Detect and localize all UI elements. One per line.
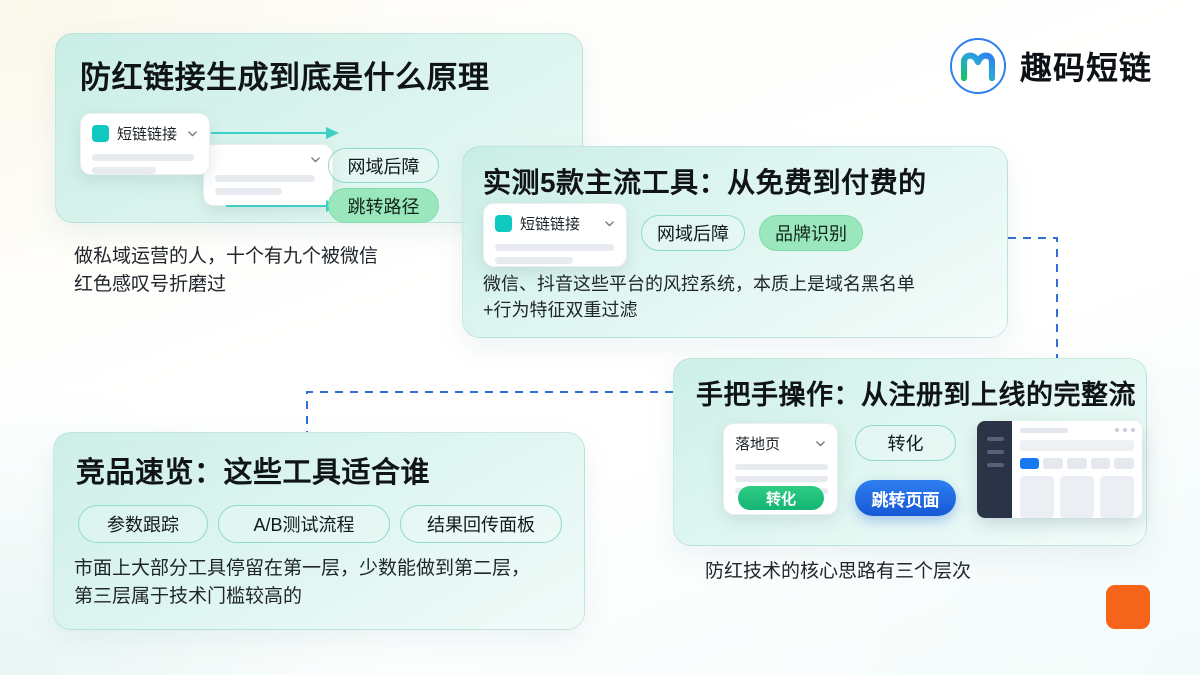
mock-searchbar (1020, 440, 1134, 451)
chevron-down-icon[interactable] (815, 438, 826, 449)
caption-principle: 做私域运营的人，十个有九个被微信 红色感叹号折磨过 (74, 243, 378, 298)
pill-label: 网域后障 (657, 220, 729, 246)
mock-sidebar-item (987, 437, 1004, 441)
pill-label: A/B测试流程 (253, 511, 354, 537)
mock-content (1012, 421, 1142, 518)
orange-accent-chip (1106, 585, 1150, 629)
placeholder-bar (92, 154, 194, 161)
mock-tab (1114, 458, 1134, 469)
slide-canvas: 防红链接生成到底是什么原理 短链链接 (0, 0, 1200, 675)
placeholder-bar (92, 167, 156, 174)
pill-label: 转化 (888, 430, 924, 456)
pill-network-barrier[interactable]: 网域后障 (328, 148, 439, 183)
teal-square-icon (92, 125, 109, 142)
widget-landing-page-label: 落地页 (735, 433, 780, 454)
mock-tab (1067, 458, 1087, 469)
widget-short-link[interactable]: 短链链接 (80, 113, 210, 175)
chevron-down-icon[interactable] (187, 128, 198, 139)
pill-label: 网域后障 (348, 153, 420, 179)
widget-short-link-row: 短链链接 (81, 114, 209, 148)
mock-sidebar-item (987, 463, 1004, 467)
arrow-head-1 (326, 127, 339, 139)
pill-convert[interactable]: 转化 (855, 425, 956, 461)
mock-tab (1091, 458, 1111, 469)
placeholder-bar (495, 257, 573, 264)
widget-landing-page[interactable]: 落地页 转化 (723, 423, 838, 515)
logo-ring (950, 38, 1006, 94)
card-tools-review-title: 实测5款主流工具：从免费到付费的 (483, 161, 927, 201)
placeholder-bar (495, 244, 614, 251)
widget-short-link-label: 短链链接 (520, 213, 580, 234)
pill-label: 结果回传面板 (427, 511, 535, 537)
pill-label: 跳转路径 (348, 193, 420, 219)
pill-result-panel[interactable]: 结果回传面板 (400, 505, 562, 543)
mock-tab (1043, 458, 1063, 469)
caption-tools-review: 微信、抖音这些平台的风控系统，本质上是域名黑名单 +行为特征双重过滤 (483, 271, 915, 323)
pill-brand-recognition[interactable]: 品牌识别 (759, 215, 863, 251)
mock-card (1020, 476, 1054, 518)
card-step-by-step[interactable]: 手把手操作：从注册到上线的完整流 落地页 转化 转化 跳转页面 (673, 358, 1147, 546)
browser-dashboard-mock[interactable] (977, 421, 1142, 518)
card-competitors-title: 竞品速览：这些工具适合谁 (76, 449, 430, 491)
mock-card (1100, 476, 1134, 518)
teal-square-icon (495, 215, 512, 232)
placeholder-bar (735, 464, 828, 470)
widget-landing-page-row: 落地页 (724, 424, 837, 458)
brand-logo[interactable]: 趣码短链 (950, 38, 1152, 94)
widget-convert-button[interactable]: 转化 (738, 486, 824, 510)
pill-network-barrier[interactable]: 网域后障 (641, 215, 745, 251)
brand-name: 趣码短链 (1020, 43, 1152, 89)
mock-sidebar (977, 421, 1012, 518)
widget-short-link[interactable]: 短链链接 (483, 203, 627, 267)
widget-short-link-label: 短链链接 (117, 123, 177, 144)
pill-ab-test-flow[interactable]: A/B测试流程 (218, 505, 390, 543)
pill-param-tracking[interactable]: 参数跟踪 (78, 505, 208, 543)
pill-label: 转化 (766, 488, 796, 509)
pill-jump-path[interactable]: 跳转路径 (328, 188, 439, 223)
widget-short-link-row: 短链链接 (484, 204, 626, 238)
mock-heading (1020, 428, 1068, 433)
pill-label: 品牌识别 (775, 220, 847, 246)
m-monogram-icon (961, 51, 995, 81)
mock-sidebar-item (987, 450, 1004, 454)
window-dots-icon (1115, 428, 1135, 432)
pill-label: 参数跟踪 (107, 511, 179, 537)
card-principle-title: 防红链接生成到底是什么原理 (80, 52, 490, 97)
mock-card-row (1020, 476, 1134, 518)
chevron-down-icon[interactable] (604, 218, 615, 229)
pill-jump-page[interactable]: 跳转页面 (855, 480, 956, 516)
card-step-by-step-title: 手把手操作：从注册到上线的完整流 (696, 373, 1136, 412)
caption-step-by-step: 防红技术的核心思路有三个层次 (705, 558, 971, 586)
caption-competitors: 市面上大部分工具停留在第一层，少数能做到第二层， 第三层属于技术门槛较高的 (74, 555, 530, 610)
mock-card (1060, 476, 1094, 518)
pill-label: 跳转页面 (872, 486, 940, 511)
mock-tabs (1020, 458, 1134, 469)
card-tools-review[interactable]: 实测5款主流工具：从免费到付费的 短链链接 网域后障 品牌识别 微信、抖音这些平… (462, 146, 1008, 338)
mock-tab-active (1020, 458, 1040, 469)
placeholder-bar (735, 476, 828, 482)
